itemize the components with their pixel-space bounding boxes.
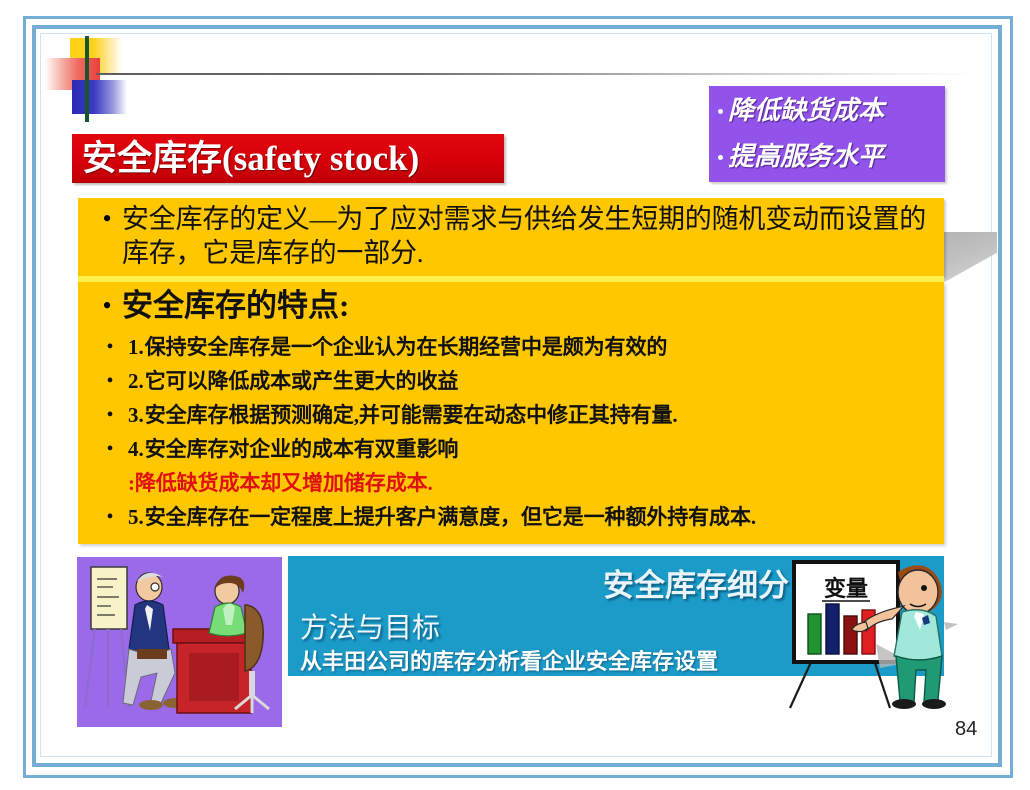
list-bullet: •: [92, 400, 128, 431]
list-item: • 1. 保持安全库存是一个企业认为在长期经营中是颇为有效的: [92, 332, 937, 363]
list-bullet: •: [92, 434, 128, 465]
bullet-dot-icon: [718, 155, 723, 160]
list-bullet: •: [92, 366, 128, 397]
list-text: 它可以降低成本或产生更大的收益: [145, 366, 459, 397]
list-text: 保持安全库存是一个企业认为在长期经营中是颇为有效的: [145, 332, 668, 363]
features-list: • 1. 保持安全库存是一个企业认为在长期经营中是颇为有效的 • 2. 它可以降…: [92, 332, 937, 536]
slide-title-band: 安全库存(safety stock): [72, 134, 504, 183]
definition-text: 安全库存的定义—为了应对需求与供给发生短期的随机变动而设置的库存，它是库存的一部…: [122, 202, 932, 270]
list-number: 4.: [128, 434, 144, 465]
page-title: 安全库存(safety stock): [82, 135, 419, 182]
logo-blue-square: [72, 80, 127, 114]
list-number: 1.: [128, 332, 144, 363]
presenter-clipart-image: 变量: [778, 548, 958, 716]
svg-text:变量: 变量: [824, 576, 868, 601]
list-number: 5.: [128, 502, 144, 533]
page-number: 84: [955, 718, 977, 741]
list-bullet: •: [92, 332, 128, 363]
list-number: 2.: [128, 366, 144, 397]
objective-item-1: 提高服务水平: [718, 136, 884, 173]
list-item: • 4. 安全库存对企业的成本有双重影响: [92, 434, 937, 465]
features-heading: • 安全库存的特点:: [92, 286, 349, 326]
list-text: 安全库存根据预测确定,并可能需要在动态中修正其持有量.: [145, 400, 678, 431]
list-bullet: •: [92, 502, 128, 533]
banner-subtitle: 方法与目标: [300, 606, 440, 646]
objectives-box: 降低缺货成本 提高服务水平: [709, 86, 945, 182]
banner-title: 安全库存细分: [603, 560, 789, 605]
features-heading-text: 安全库存的特点:: [122, 286, 349, 326]
list-text: 安全库存对企业的成本有双重影响: [145, 434, 459, 465]
objective-label-1: 提高服务水平: [728, 142, 884, 171]
banner-caption: 从丰田公司的库存分析看企业安全库存设置: [300, 644, 718, 676]
list-number: 3.: [128, 400, 144, 431]
list-item: • 2. 它可以降低成本或产生更大的收益: [92, 366, 937, 397]
meeting-clipart-image: [76, 556, 283, 728]
definition-box: • 安全库存的定义—为了应对需求与供给发生短期的随机变动而设置的库存，它是库存的…: [78, 198, 944, 276]
objective-item-0: 降低缺货成本: [718, 90, 884, 127]
objective-label-0: 降低缺货成本: [728, 96, 884, 125]
header-rule: [96, 73, 976, 75]
bullet-dot-icon: [718, 109, 723, 114]
list-item: • 3. 安全库存根据预测确定,并可能需要在动态中修正其持有量.: [92, 400, 937, 431]
list-text-highlight: :降低缺货成本却又增加储存成本.: [128, 468, 433, 499]
definition-row: • 安全库存的定义—为了应对需求与供给发生短期的随机变动而设置的库存，它是库存的…: [92, 202, 932, 270]
list-item-highlight: :降低缺货成本却又增加储存成本.: [92, 468, 937, 499]
list-item: • 5. 安全库存在一定程度上提升客户满意度，但它是一种额外持有成本.: [92, 502, 937, 533]
presenter-chart-illustration-icon: 变量: [778, 548, 958, 716]
logo-green-line: [85, 36, 89, 122]
corner-logo-icon: [42, 36, 142, 116]
list-text: 安全库存在一定程度上提升客户满意度，但它是一种额外持有成本.: [145, 502, 756, 533]
meeting-illustration-icon: [77, 557, 282, 727]
features-heading-bullet: •: [92, 286, 122, 326]
features-box: • 安全库存的特点: • 1. 保持安全库存是一个企业认为在长期经营中是颇为有效…: [78, 282, 944, 544]
slide-root: 安全库存(safety stock) 降低缺货成本 提高服务水平 • 安全库存的…: [0, 0, 1030, 790]
definition-bullet: •: [92, 202, 122, 270]
